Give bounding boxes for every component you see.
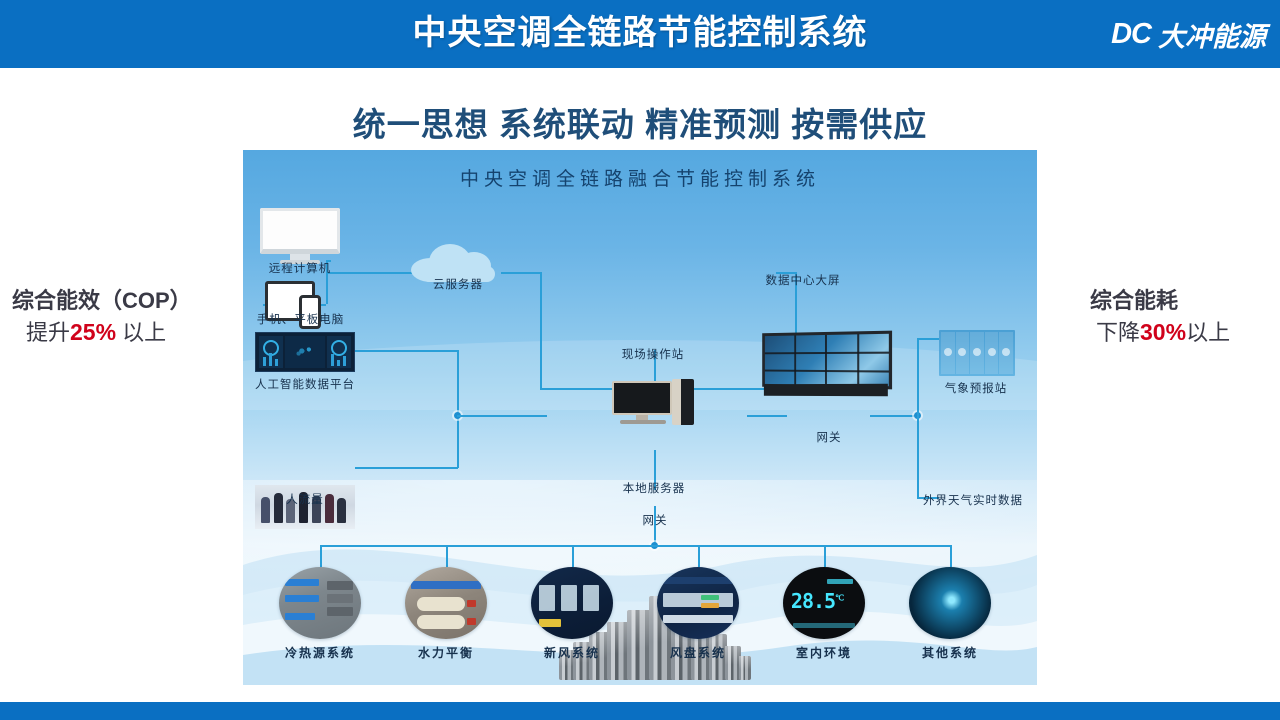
workstation-monitor (612, 381, 672, 415)
forecast-day (956, 332, 970, 374)
page-title: 中央空调全链路节能控制系统 (0, 6, 1280, 60)
status-indicator (701, 603, 719, 608)
left-metric-prefix: 提升 (26, 320, 70, 345)
connector-branch-3 (572, 545, 574, 567)
company-logo: DC 大冲能源 (1111, 14, 1266, 54)
forecast-day (941, 332, 955, 374)
subsystem-icon-indoor-environment: 28.5℃ (783, 567, 865, 639)
dashboard-bar (343, 356, 346, 366)
label-subsystem-3: 风盘系统 (652, 644, 744, 661)
thermostat-clock (827, 579, 853, 584)
dashboard-col-map (285, 336, 324, 368)
dashboard-bar (331, 354, 334, 366)
chiller-unit (327, 607, 353, 616)
video-wall-seam (825, 335, 827, 385)
workstation-tower (672, 379, 694, 425)
dashboard-bar (269, 353, 272, 366)
connector-left-bus-vertical (457, 350, 459, 468)
air-filter (539, 585, 555, 611)
label-subsystem-2: 新风系统 (526, 644, 618, 661)
right-metric-value-line: 下降30%以上 (1090, 316, 1230, 349)
label-weather-forecast-station: 气象预报站 (921, 380, 1031, 396)
label-gateway-right: 网关 (786, 429, 872, 445)
slide-subtitle: 统一思想 系统联动 精准预测 按需供应 (0, 98, 1280, 146)
panel-header (663, 577, 733, 584)
remote-computer-icon (260, 208, 340, 264)
label-field-workstation: 现场操作站 (593, 346, 713, 362)
label-data-center-screen: 数据中心大屏 (748, 272, 858, 288)
header-pipe (411, 581, 481, 589)
valve (467, 600, 476, 607)
forecast-day (999, 332, 1013, 374)
video-wall-seam (794, 336, 796, 385)
video-wall-seam (857, 334, 859, 385)
thermostat-unit: ℃ (835, 593, 843, 602)
left-metric-title: 综合能效（COP） (12, 286, 192, 316)
balance-tank (417, 615, 465, 629)
connector-branch-1 (320, 545, 322, 567)
left-metric-percent: 25% (70, 319, 116, 345)
right-metric-callout: 综合能耗 下降30%以上 (1090, 286, 1230, 349)
subsystem-icon-other-systems (909, 567, 991, 639)
forecast-day (970, 332, 984, 374)
connector-subsystem-bus (320, 545, 950, 547)
label-people-flow: 人流量 (265, 491, 345, 507)
subsystem-icon-fan-coil (657, 567, 739, 639)
rack-highlight (627, 610, 651, 680)
right-metric-title: 综合能耗 (1090, 286, 1230, 316)
label-cloud-server: 云服务器 (403, 276, 513, 292)
connector-ai-platform-horizontal (355, 350, 458, 352)
thermostat-temperature-display: 28.5℃ (791, 589, 843, 613)
connector-server-to-gateway-right (747, 415, 787, 417)
monitor-screen (260, 208, 340, 254)
video-wall-base (764, 384, 888, 397)
connector-branch-5 (824, 545, 826, 567)
status-indicator (701, 595, 719, 600)
label-outdoor-weather-realtime: 外界天气实时数据 (903, 492, 1037, 508)
forecast-day (985, 332, 999, 374)
connector-weather-forecast-stub (917, 338, 939, 340)
video-wall-seam (765, 352, 889, 355)
label-gateway-bottom: 网关 (612, 512, 698, 528)
connector-gateway-to-weather-bus (870, 415, 917, 417)
right-metric-prefix: 下降 (1096, 320, 1140, 345)
right-metric-percent: 30% (1140, 319, 1186, 345)
subsystem-icon-hydraulic-balance (405, 567, 487, 639)
label-subsystem-1: 水力平衡 (398, 644, 494, 661)
architecture-diagram: 中央空调全链路融合节能控制系统 远程计算机 (243, 150, 1037, 685)
valve (467, 618, 476, 625)
diagram-title: 中央空调全链路融合节能控制系统 (243, 164, 1037, 191)
label-local-server: 本地服务器 (594, 480, 714, 496)
connector-branch-2 (446, 545, 448, 567)
connector-branch-6 (950, 545, 952, 567)
dashboard-bar (263, 357, 266, 366)
connector-branch-4 (698, 545, 700, 567)
air-filter (561, 585, 577, 611)
subsystem-icon-cold-heat-source (279, 567, 361, 639)
status-tag (539, 619, 561, 627)
right-metric-suffix: 以上 (1186, 320, 1230, 345)
connector-cloud-bus-vertical (540, 272, 542, 389)
workstation-base (620, 420, 666, 424)
dashboard-bar (275, 359, 278, 366)
chiller-pipe (285, 579, 319, 586)
left-metric-value-line: 提升25% 以上 (12, 316, 192, 349)
footer-band (0, 702, 1280, 720)
label-subsystem-0: 冷热源系统 (264, 644, 376, 661)
dashboard-bar (337, 360, 340, 366)
connector-cloud-to-bus (501, 272, 541, 274)
label-remote-computer: 远程计算机 (243, 260, 357, 276)
subsystem-icon-fresh-air (531, 567, 613, 639)
field-workstation-icon (612, 379, 696, 429)
connector-left-bus-to-server (457, 415, 547, 417)
label-subsystem-5: 其他系统 (904, 644, 996, 661)
balance-tank (417, 597, 465, 611)
logo-company-name: 大冲能源 (1158, 15, 1266, 54)
chiller-unit (327, 594, 353, 603)
left-metric-callout: 综合能效（COP） 提升25% 以上 (12, 286, 192, 349)
chiller-pipe (285, 595, 319, 602)
dashboard-map-icon (289, 343, 322, 359)
logo-mark-text: DC (1111, 18, 1151, 51)
chiller-pipe (285, 613, 315, 620)
ai-data-platform-icon (255, 332, 355, 372)
left-metric-suffix: 以上 (116, 320, 166, 345)
label-subsystem-4: 室内环境 (778, 644, 870, 661)
server-rack (627, 610, 651, 680)
weather-forecast-station-icon (939, 330, 1015, 376)
connector-weather-bus-vertical (917, 338, 919, 498)
dashboard-col-right (327, 336, 351, 368)
fan-coil-duct (663, 615, 733, 623)
connector-people-flow-horizontal (355, 467, 458, 469)
label-ai-data-platform: 人工智能数据平台 (243, 376, 376, 392)
dashboard-col-left (259, 336, 283, 368)
air-filter (583, 585, 599, 611)
thermostat-value: 28.5 (791, 589, 835, 613)
thermostat-buttons (793, 623, 855, 628)
fan-coil-unit (663, 593, 733, 607)
chiller-unit (327, 581, 353, 590)
data-center-screen-icon (758, 332, 890, 402)
label-mobile-tablet: 手机、平板电脑 (243, 311, 368, 327)
video-wall-grid (762, 331, 892, 390)
